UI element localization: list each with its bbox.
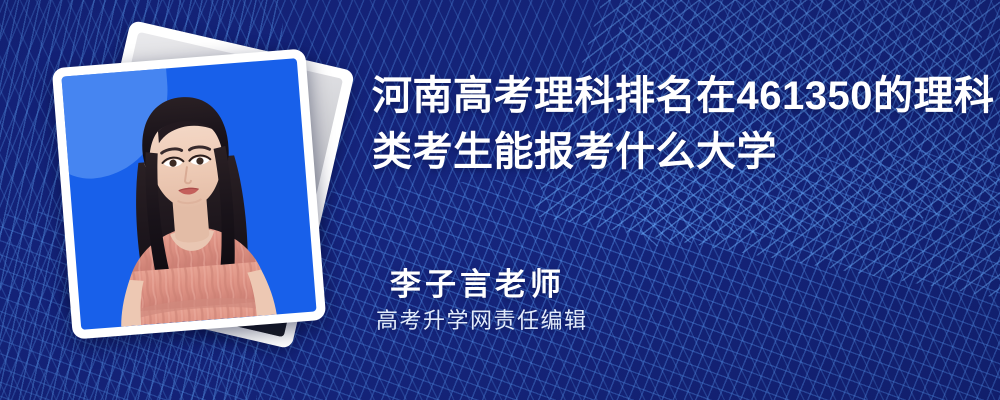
author-photo-stack (62, 36, 352, 356)
page-title-line-2: 类考生能报考什么大学 (372, 124, 972, 180)
author-info: 李子言老师 高考升学网责任编辑 (372, 265, 588, 337)
author-name: 李子言老师 (372, 265, 588, 305)
portrait-illustration (61, 58, 316, 330)
photo-front-card (52, 48, 327, 339)
avatar (61, 58, 316, 330)
author-role: 高考升学网责任编辑 (372, 305, 588, 337)
article-header-banner: 河南高考理科排名在461350的理科 类考生能报考什么大学 李子言老师 高考升学… (0, 0, 1000, 400)
page-title-line-1: 河南高考理科排名在461350的理科 (372, 68, 972, 124)
page-title: 河南高考理科排名在461350的理科 类考生能报考什么大学 (372, 68, 972, 180)
